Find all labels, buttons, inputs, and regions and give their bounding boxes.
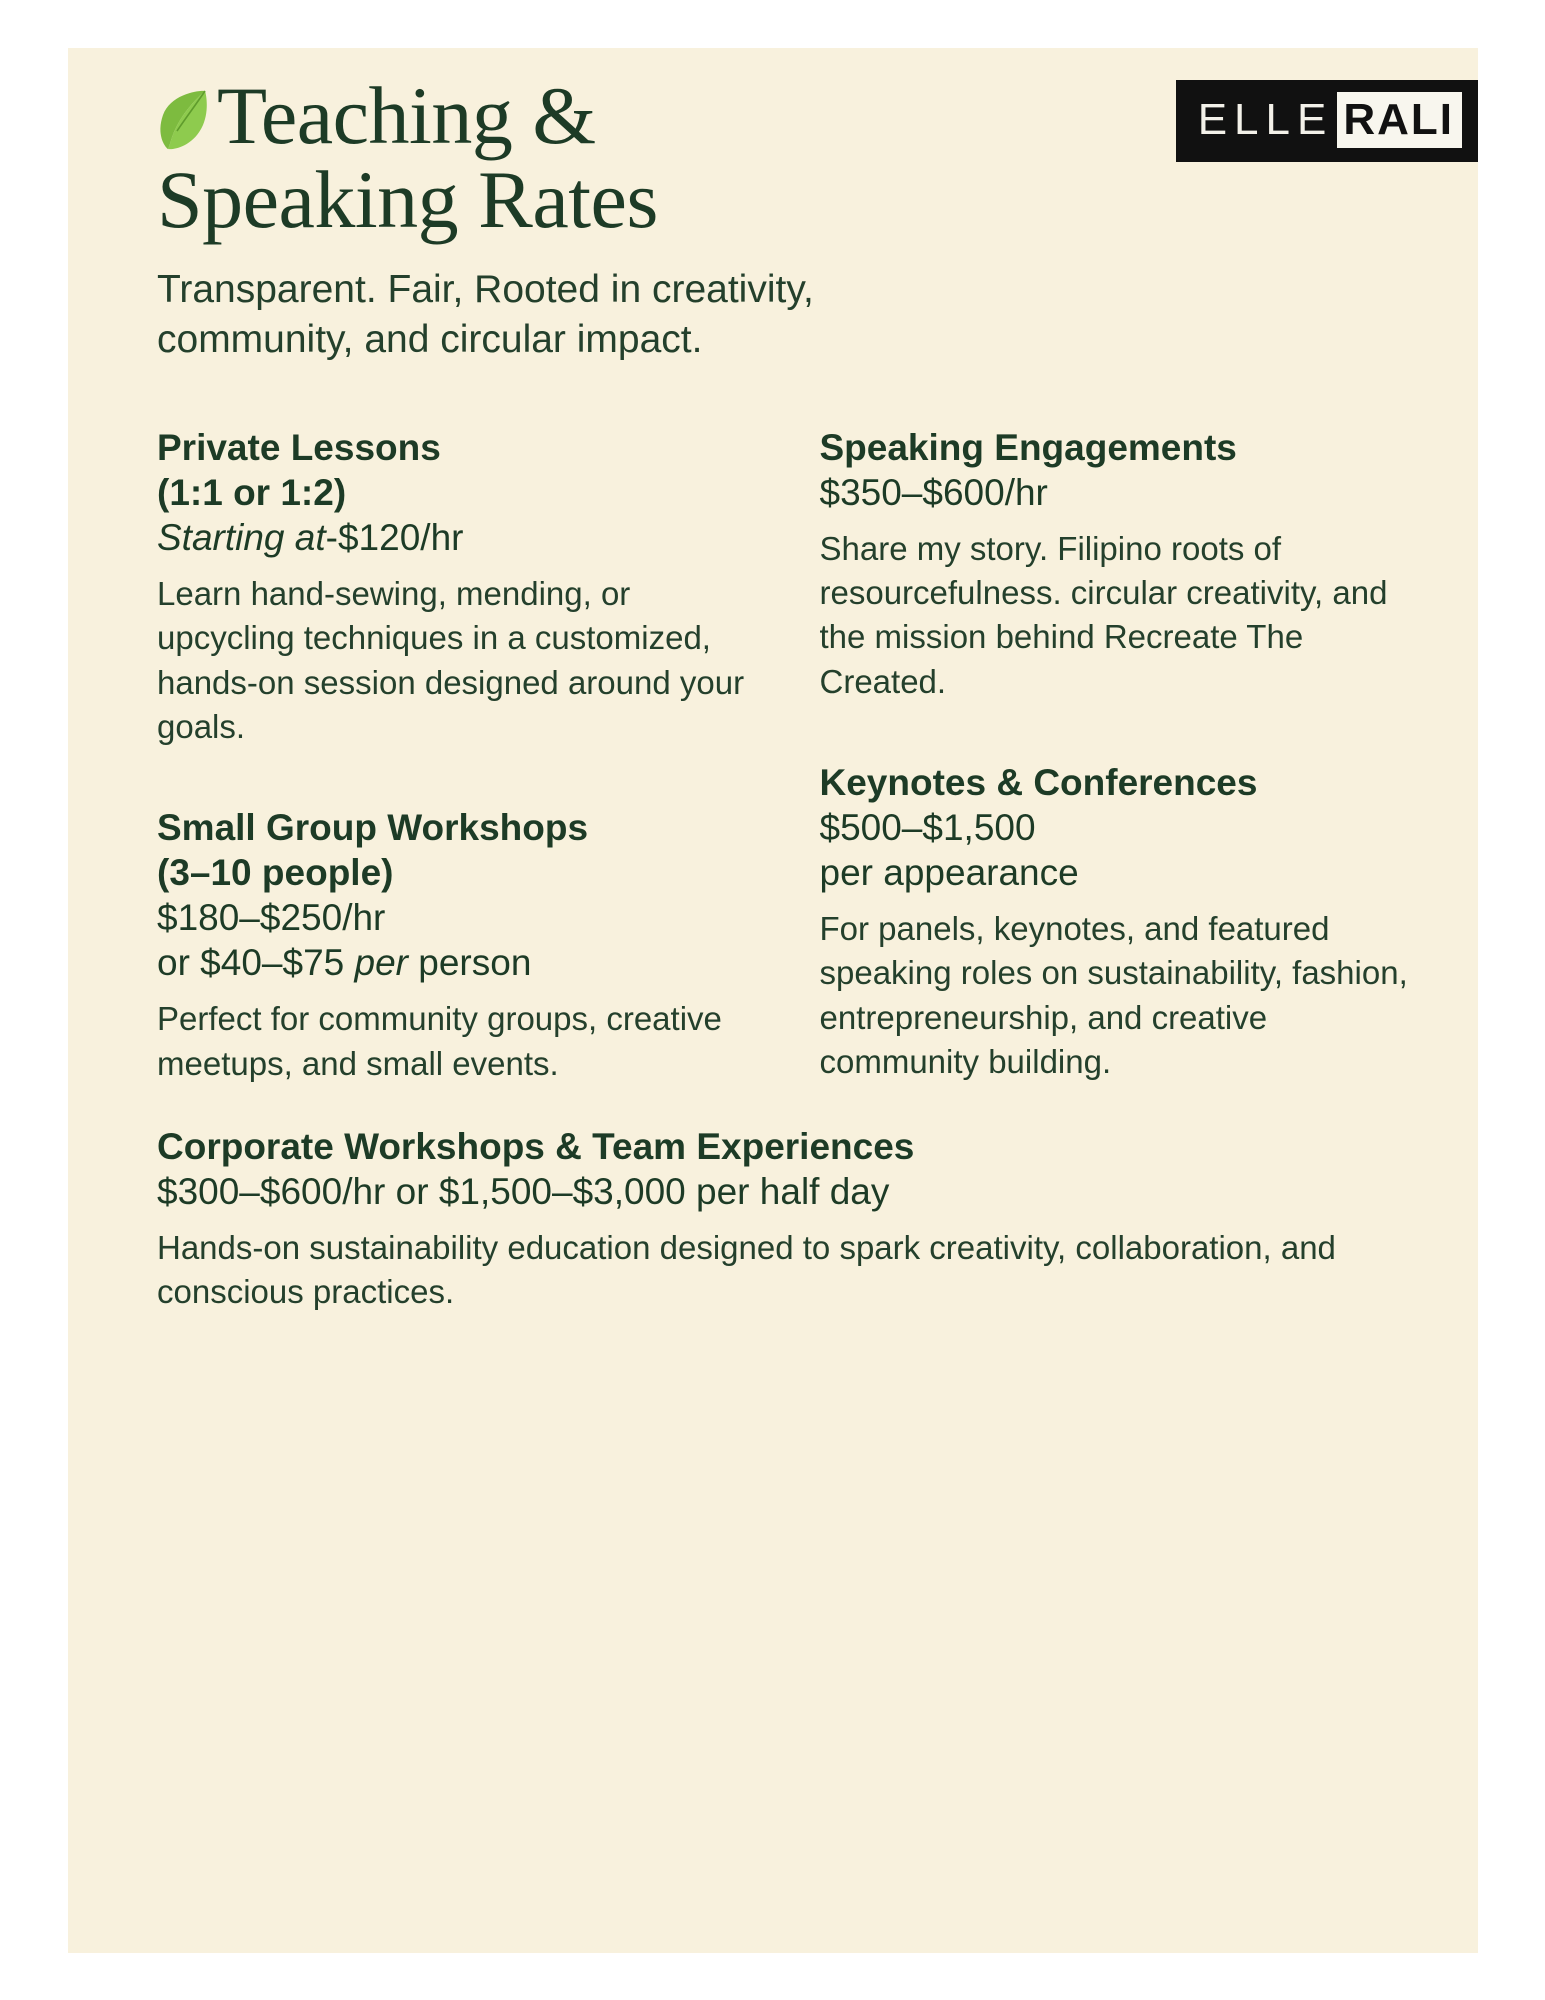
page-title-line2: Speaking Rates [157, 154, 658, 245]
title-block: Teaching & Speaking Rates [157, 74, 1426, 243]
section-corporate-workshops: Corporate Workshops & Team Experiences $… [68, 1086, 1478, 1315]
small-group-heading-line2: (3–10 people) [157, 852, 393, 893]
rates-columns: Private Lessons (1:1 or 1:2) Starting at… [68, 365, 1478, 1086]
small-group-price-line2-pre: or $40–$75 [157, 942, 355, 983]
small-group-price-line2-italic: per [355, 942, 408, 983]
right-column: Speaking Engagements $350–$600/hr Share … [810, 425, 1427, 1086]
section-speaking-engagements: Speaking Engagements $350–$600/hr Share … [820, 425, 1427, 704]
corporate-price: $300–$600/hr or $1,500–$3,000 per half d… [157, 1169, 1426, 1214]
keynotes-body: For panels, keynotes, and featured speak… [820, 907, 1427, 1084]
private-lessons-price-rest: -$120/hr [326, 517, 464, 558]
section-private-lessons: Private Lessons (1:1 or 1:2) Starting at… [157, 425, 764, 749]
left-column: Private Lessons (1:1 or 1:2) Starting at… [157, 425, 772, 1086]
small-group-price-line1: $180–$250/hr [157, 897, 385, 938]
leaf-icon [157, 89, 211, 151]
header: ELLERALI Teaching & Speaking Rates Trans… [68, 48, 1478, 365]
small-group-price: $180–$250/hr or $40–$75 per person [157, 895, 764, 985]
keynotes-price: $500–$1,500 per appearance [820, 805, 1427, 895]
section-keynotes-conferences: Keynotes & Conferences $500–$1,500 per a… [820, 760, 1427, 1084]
page-subtitle: Transparent. Fair, Rooted in creativity,… [157, 265, 1017, 365]
corporate-heading: Corporate Workshops & Team Experiences [157, 1124, 1426, 1169]
corporate-body: Hands-on sustainability education design… [157, 1226, 1426, 1314]
private-lessons-body: Learn hand-sewing, mending, or upcycling… [157, 572, 764, 749]
keynotes-heading: Keynotes & Conferences [820, 760, 1427, 805]
speaking-engagements-price: $350–$600/hr [820, 470, 1427, 515]
private-lessons-price-italic: Starting at [157, 517, 326, 558]
keynotes-price-line2: per appearance [820, 852, 1079, 893]
private-lessons-heading-line1: Private Lessons [157, 427, 441, 468]
section-small-group-workshops: Small Group Workshops (3–10 people) $180… [157, 805, 764, 1086]
private-lessons-price: Starting at-$120/hr [157, 515, 764, 560]
private-lessons-heading: Private Lessons (1:1 or 1:2) [157, 425, 764, 515]
private-lessons-heading-line2: (1:1 or 1:2) [157, 472, 346, 513]
small-group-heading: Small Group Workshops (3–10 people) [157, 805, 764, 895]
small-group-body: Perfect for community groups, creative m… [157, 997, 764, 1085]
page-title-line1: Teaching & [217, 70, 596, 161]
speaking-engagements-body: Share my story. Filipino roots of resour… [820, 527, 1427, 704]
small-group-heading-line1: Small Group Workshops [157, 807, 588, 848]
rate-card-page: ELLERALI Teaching & Speaking Rates Trans… [68, 48, 1478, 1953]
small-group-price-line2-post: person [408, 942, 531, 983]
speaking-engagements-heading: Speaking Engagements [820, 425, 1427, 470]
keynotes-price-line1: $500–$1,500 [820, 807, 1036, 848]
page-title: Teaching & Speaking Rates [157, 74, 977, 243]
